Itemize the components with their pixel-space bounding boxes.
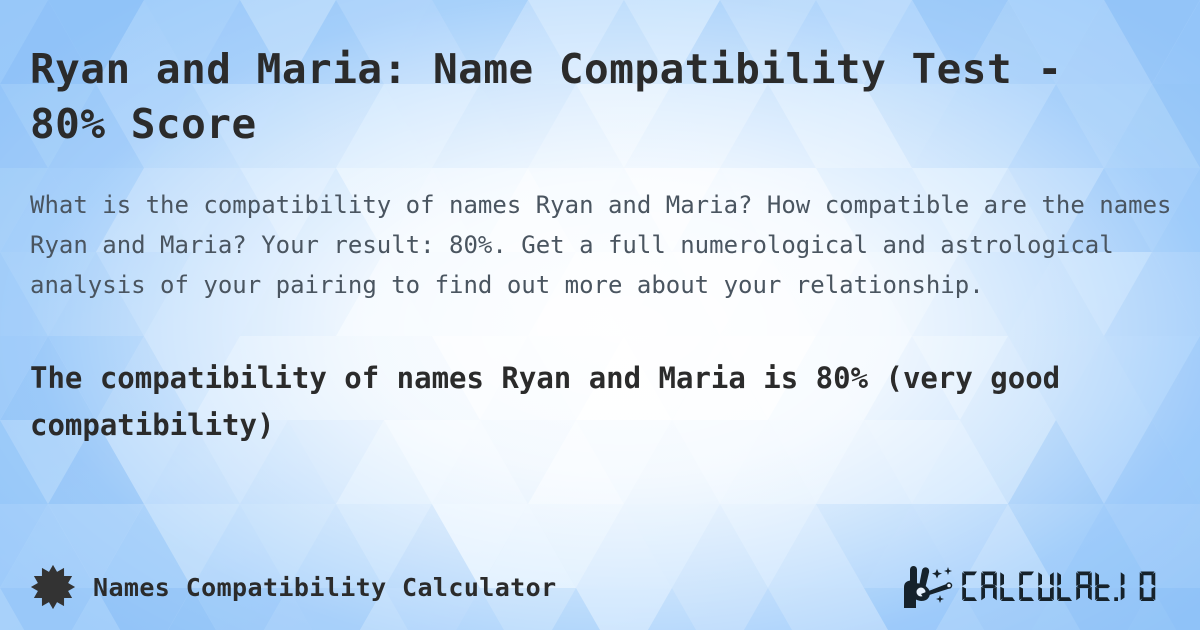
- brand-label: Names Compatibility Calculator: [93, 573, 557, 602]
- brand-block[interactable]: Names Compatibility Calculator: [30, 564, 557, 610]
- magic-wand-hand-icon: [901, 564, 957, 610]
- footer-bar: Names Compatibility Calculator: [0, 544, 1200, 630]
- site-logo[interactable]: [901, 564, 1160, 610]
- page-content: Ryan and Maria: Name Compatibility Test …: [0, 0, 1200, 630]
- page-title: Ryan and Maria: Name Compatibility Test …: [30, 42, 1140, 152]
- starburst-icon: [30, 564, 76, 610]
- page-description: What is the compatibility of names Ryan …: [30, 185, 1175, 305]
- result-statement: The compatibility of names Ryan and Mari…: [30, 355, 1175, 449]
- logo-wordmark: [961, 566, 1160, 608]
